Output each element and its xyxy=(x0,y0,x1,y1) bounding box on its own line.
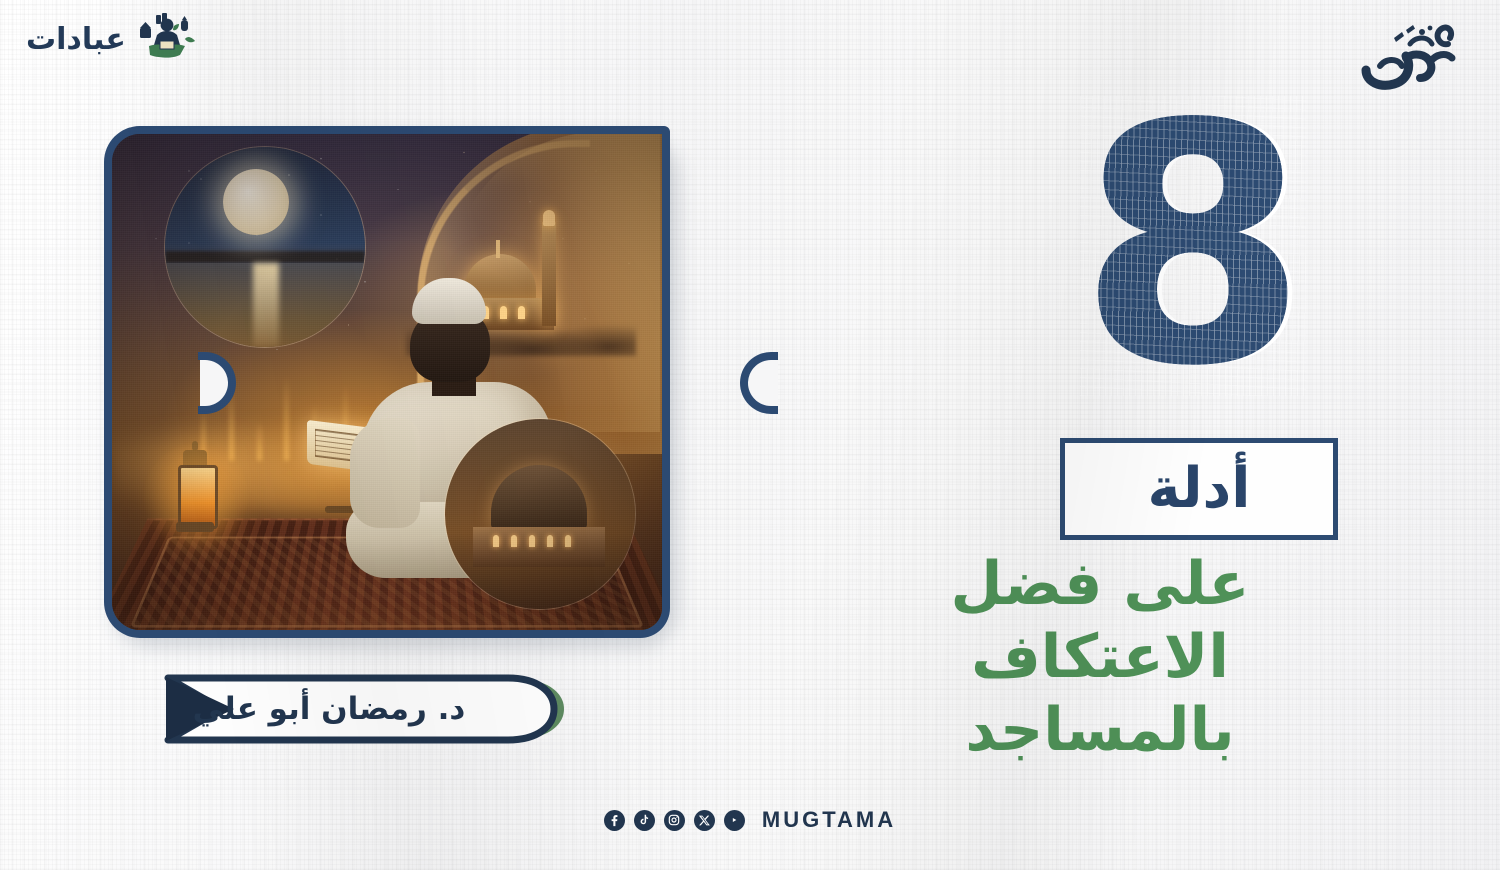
mosque-dome-orb xyxy=(444,418,636,610)
footer-brand: MUGTAMA xyxy=(762,807,896,833)
ibadat-wordmark: عبادات xyxy=(26,25,126,55)
tiktok-icon[interactable] xyxy=(634,810,655,831)
x-twitter-icon[interactable] xyxy=(694,810,715,831)
ibadat-brand[interactable]: عبادات xyxy=(26,12,198,64)
youtube-icon[interactable] xyxy=(724,810,745,831)
hero-photo xyxy=(104,126,670,638)
author-banner[interactable]: د. رمضان أبو علي xyxy=(160,672,580,746)
lantern xyxy=(174,450,216,542)
subtitle-line-2: الاعتكاف بالمساجد xyxy=(850,621,1350,767)
headline-number: 8 xyxy=(1080,96,1306,396)
poster-canvas: عبادات xyxy=(0,0,1500,870)
moon-orb xyxy=(164,146,366,348)
instagram-icon[interactable] xyxy=(664,810,685,831)
headline-subtitle: على فضل الاعتكاف بالمساجد xyxy=(850,548,1350,768)
headline-column: 8 أدلة على فضل الاعتكاف بالمساجد xyxy=(860,0,1500,870)
subtitle-line-1: على فضل xyxy=(850,548,1350,621)
facebook-icon[interactable] xyxy=(604,810,625,831)
footer-social-row: MUGTAMA xyxy=(0,800,1500,840)
author-name: د. رمضان أبو علي xyxy=(160,672,524,746)
frame-notch-right xyxy=(744,354,778,412)
boxed-word: أدلة xyxy=(1060,438,1338,540)
photo-frame xyxy=(104,126,670,638)
photo-scene xyxy=(112,134,662,630)
person-reading-ibadat-icon xyxy=(136,12,198,64)
